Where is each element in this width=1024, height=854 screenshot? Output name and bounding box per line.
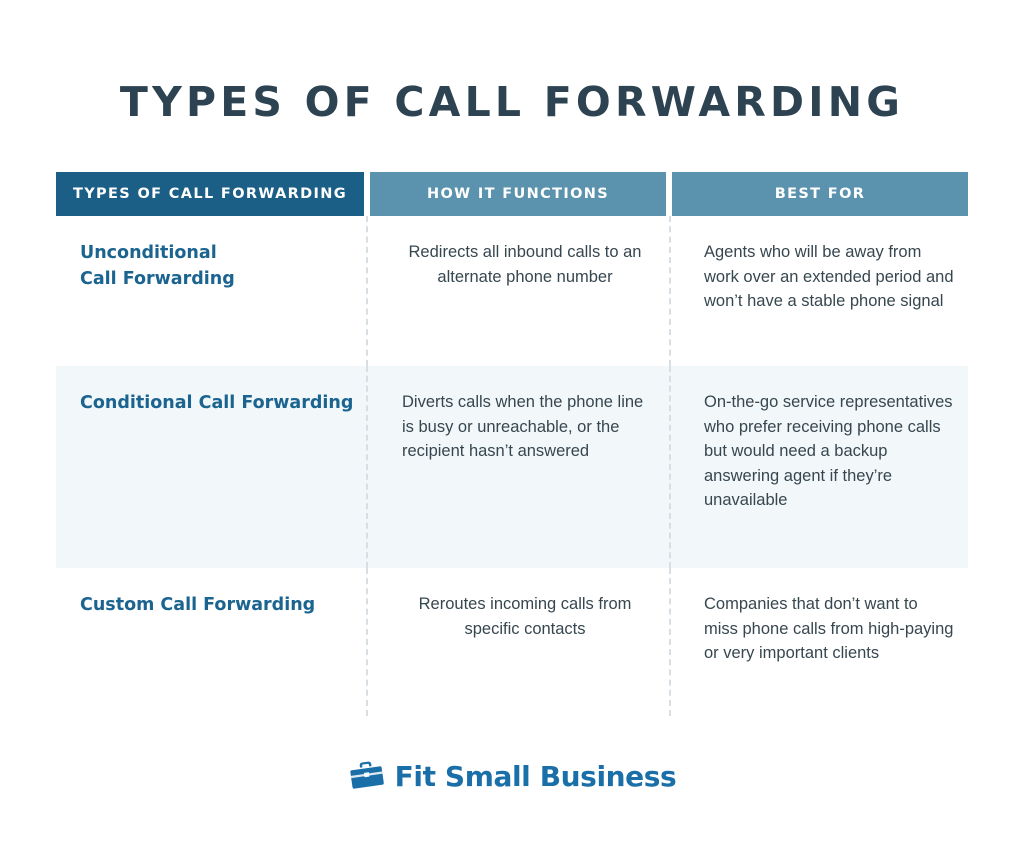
row-best-for-cell: Agents who will be away from work over a…: [672, 216, 968, 366]
brand-name: Fit Small Business: [395, 760, 677, 793]
forwarding-type-label: Custom Call Forwarding: [80, 592, 358, 618]
best-for-text: On-the-go service representatives who pr…: [704, 390, 954, 513]
column-header-best-for: BEST FOR: [672, 172, 968, 216]
table-row: Unconditional Call Forwarding Redirects …: [56, 216, 968, 366]
infographic-root: TYPES OF CALL FORWARDING TYPES OF CALL F…: [0, 0, 1024, 854]
row-type-cell: Unconditional Call Forwarding: [56, 216, 370, 366]
briefcase-icon: [348, 760, 386, 793]
row-type-cell: Conditional Call Forwarding: [56, 366, 370, 568]
row-function-cell: Reroutes incoming calls from specific co…: [370, 568, 672, 716]
row-type-cell: Custom Call Forwarding: [56, 568, 370, 716]
footer-logo: Fit Small Business: [0, 760, 1024, 793]
best-for-text: Companies that don’t want to miss phone …: [704, 592, 954, 666]
row-best-for-cell: On-the-go service representatives who pr…: [672, 366, 968, 568]
how-it-functions-text: Redirects all inbound calls to an altern…: [402, 240, 648, 289]
row-function-cell: Diverts calls when the phone line is bus…: [370, 366, 672, 568]
table-header-row: TYPES OF CALL FORWARDING HOW IT FUNCTION…: [56, 172, 968, 216]
forwarding-type-label: Conditional Call Forwarding: [80, 390, 358, 416]
how-it-functions-text: Reroutes incoming calls from specific co…: [402, 592, 648, 641]
best-for-text: Agents who will be away from work over a…: [704, 240, 954, 314]
table-row: Conditional Call Forwarding Diverts call…: [56, 366, 968, 568]
column-header-types: TYPES OF CALL FORWARDING: [56, 172, 364, 216]
forwarding-type-label: Unconditional Call Forwarding: [80, 240, 358, 292]
table-row: Custom Call Forwarding Reroutes incoming…: [56, 568, 968, 716]
row-best-for-cell: Companies that don’t want to miss phone …: [672, 568, 968, 716]
call-forwarding-table: TYPES OF CALL FORWARDING HOW IT FUNCTION…: [56, 172, 968, 716]
column-header-how-it-functions: HOW IT FUNCTIONS: [370, 172, 666, 216]
page-title: TYPES OF CALL FORWARDING: [0, 78, 1024, 126]
how-it-functions-text: Diverts calls when the phone line is bus…: [402, 390, 648, 464]
row-function-cell: Redirects all inbound calls to an altern…: [370, 216, 672, 366]
